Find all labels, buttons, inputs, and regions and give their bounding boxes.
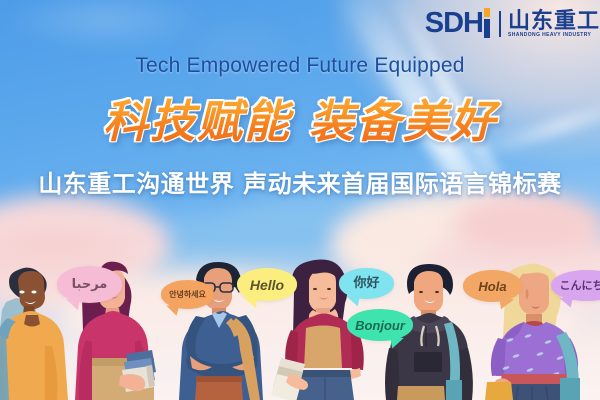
brand-logo: SDH 山东重工 SHANDONG HEAVY INDUSTRY bbox=[425, 9, 600, 38]
logo-sdhi-letters: SDH bbox=[425, 9, 483, 38]
speech-bubble-spanish: Hola bbox=[463, 270, 522, 302]
bubble-tail-spanish bbox=[497, 297, 514, 311]
logo-chinese-name: 山东重工 bbox=[508, 9, 600, 32]
bubble-text-french: Bonjour bbox=[355, 319, 405, 332]
bubble-text-korean: 안녕하세요 bbox=[169, 291, 206, 299]
speech-bubble-arabic: مرحبا bbox=[57, 266, 122, 303]
bubble-text-japanese: こんにちは bbox=[560, 280, 600, 291]
logo-chinese-subtext: SHANDONG HEAVY INDUSTRY bbox=[508, 32, 600, 39]
bubble-tail-korean bbox=[166, 304, 180, 316]
people-illustration bbox=[0, 240, 600, 400]
bubble-text-chinese: 你好 bbox=[353, 277, 379, 290]
logo-chinese-block: 山东重工 SHANDONG HEAVY INDUSTRY bbox=[508, 9, 600, 38]
poster-canvas: SDH 山东重工 SHANDONG HEAVY INDUSTRY Tech Em… bbox=[0, 0, 600, 400]
bubble-tail-english bbox=[243, 295, 260, 310]
headline-block: Tech Empowered Future Equipped 科技赋能 装备美好… bbox=[0, 54, 600, 199]
speech-bubble-korean: 안녕하세요 bbox=[161, 280, 214, 309]
logo-sdhi-text: SDH bbox=[425, 9, 492, 38]
bubble-tail-french bbox=[388, 336, 404, 350]
bubble-tail-japanese bbox=[559, 296, 574, 309]
bubble-text-arabic: مرحبا bbox=[72, 278, 108, 291]
bubble-text-spanish: Hola bbox=[478, 280, 506, 293]
subtitle-chinese: 山东重工沟通世界 声动未来首届国际语言锦标赛 bbox=[0, 164, 600, 199]
speech-bubble-chinese: 你好 bbox=[339, 268, 394, 299]
speech-bubble-french: Bonjour bbox=[347, 309, 413, 341]
sky-glow-left bbox=[0, 0, 210, 50]
bubble-tail-chinese bbox=[346, 294, 362, 308]
speech-bubble-english: Hello bbox=[237, 268, 297, 301]
logo-divider bbox=[499, 11, 501, 37]
tagline-english: Tech Empowered Future Equipped bbox=[0, 54, 600, 78]
bubble-text-english: Hello bbox=[250, 278, 284, 292]
headline-chinese: 科技赋能 装备美好 bbox=[0, 85, 600, 150]
bubble-tail-arabic bbox=[66, 297, 82, 312]
